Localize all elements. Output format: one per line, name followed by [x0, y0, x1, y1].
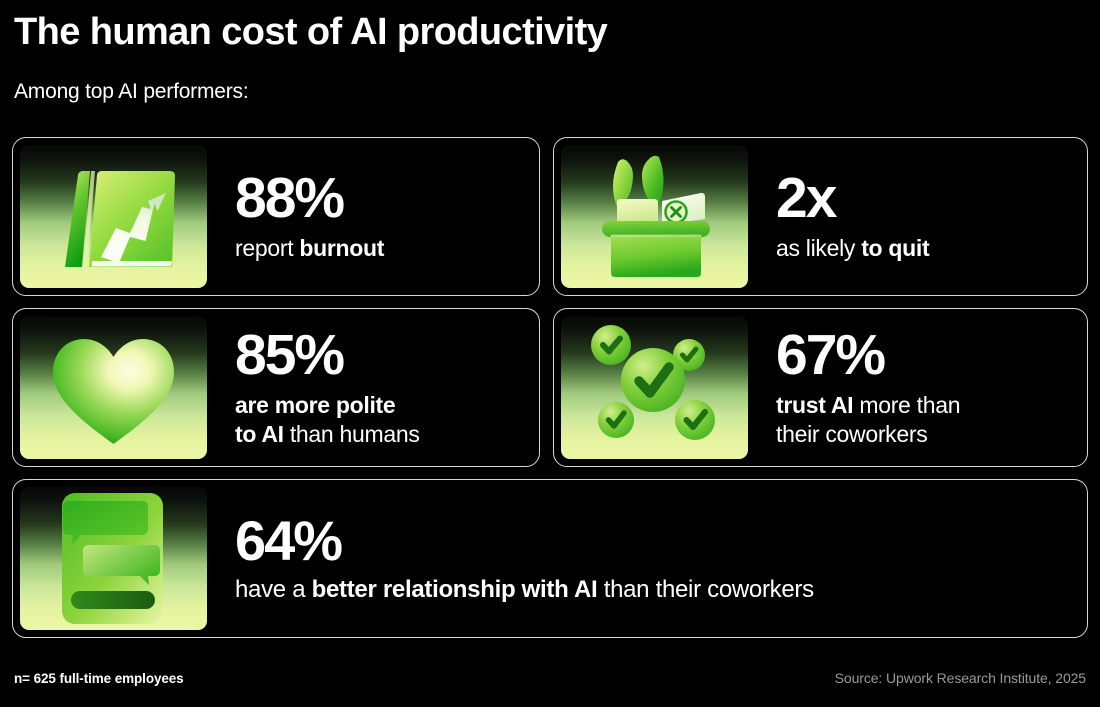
stat-description: trust AI more thantheir coworkers — [776, 391, 1073, 447]
stat-card-quit: 2x as likely to quit — [553, 137, 1088, 296]
check-circles-icon — [561, 316, 748, 459]
moving-box-plant-icon — [561, 145, 748, 288]
stat-description: report burnout — [235, 234, 525, 262]
stat-card-grid: 88% report burnout — [12, 137, 1088, 637]
stat-value: 64% — [235, 513, 1073, 569]
stat-card-burnout: 88% report burnout — [12, 137, 540, 296]
page-subtitle: Among top AI performers: — [14, 80, 1084, 104]
stat-text-polite: 85% are more politeto AI than humans — [207, 327, 539, 447]
stat-card-relationship: 64% have a better relationship with AI t… — [12, 479, 1088, 638]
stat-text-relationship: 64% have a better relationship with AI t… — [207, 513, 1087, 604]
infographic-root: The human cost of AI productivity Among … — [0, 0, 1100, 707]
stat-value: 67% — [776, 327, 1073, 384]
footer: n= 625 full-time employees Source: Upwor… — [14, 663, 1086, 693]
stat-text-burnout: 88% report burnout — [207, 170, 539, 262]
book-chart-up-icon — [20, 145, 207, 288]
stat-card-polite: 85% are more politeto AI than humans — [12, 308, 540, 467]
chat-bubbles-icon — [20, 487, 207, 630]
header: The human cost of AI productivity Among … — [14, 12, 1084, 104]
stat-value: 2x — [776, 170, 1073, 227]
stat-text-trust: 67% trust AI more thantheir coworkers — [748, 327, 1087, 447]
page-title: The human cost of AI productivity — [14, 12, 1084, 54]
heart-icon — [20, 316, 207, 459]
stat-value: 88% — [235, 170, 525, 227]
sample-size-note: n= 625 full-time employees — [14, 671, 184, 686]
stat-text-quit: 2x as likely to quit — [748, 170, 1087, 262]
stat-description: as likely to quit — [776, 234, 1073, 262]
source-credit: Source: Upwork Research Institute, 2025 — [835, 670, 1086, 686]
stat-value: 85% — [235, 327, 525, 384]
stat-description: are more politeto AI than humans — [235, 391, 525, 447]
stat-description: have a better relationship with AI than … — [235, 575, 1073, 604]
stat-card-trust: 67% trust AI more thantheir coworkers — [553, 308, 1088, 467]
